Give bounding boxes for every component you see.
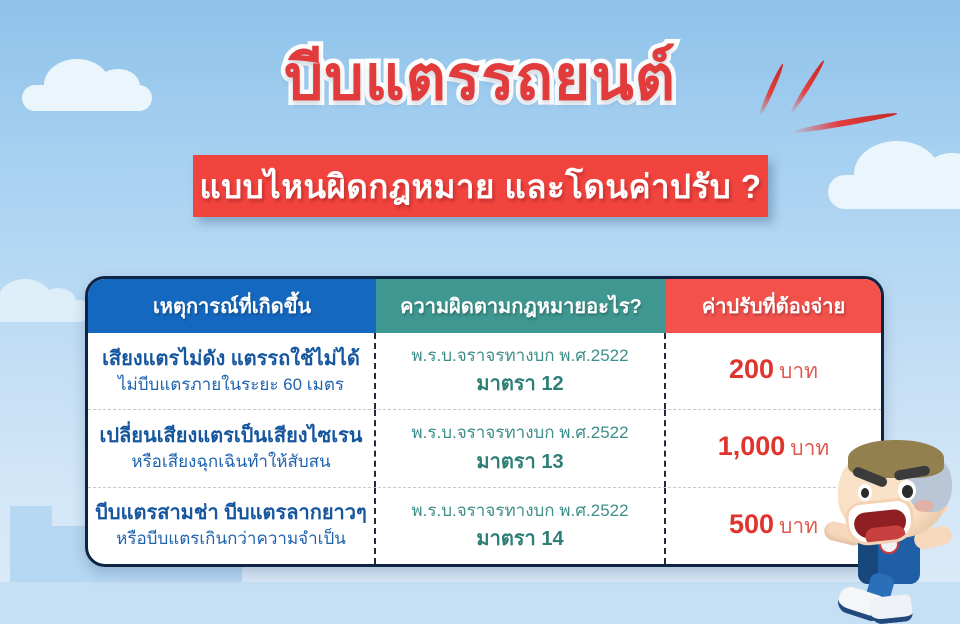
law-act-text: พ.ร.บ.จราจรทางบก พ.ศ.2522 [411, 500, 628, 522]
character-eyebrow [893, 465, 930, 481]
cell-fine: 200บาท [666, 333, 881, 409]
character-cheek-blush [914, 500, 934, 512]
character-shoe [869, 594, 914, 624]
cell-event: เสียงแตรไม่ดัง แตรรถใช้ไม่ได้ ไม่บีบแตรภ… [88, 333, 376, 409]
law-section-text: มาตรา 12 [476, 371, 563, 397]
cell-event: บีบแตรสามช่า บีบแตรลากยาวๆ หรือบีบแตรเกิ… [88, 488, 376, 564]
fine-line: 200บาท [729, 354, 818, 388]
cell-fine: 1,000บาท [666, 410, 881, 486]
table-row: เสียงแตรไม่ดัง แตรรถใช้ไม่ได้ ไม่บีบแตรภ… [88, 333, 881, 410]
character-eye [898, 480, 916, 501]
fine-amount: 200 [729, 354, 774, 384]
law-act-text: พ.ร.บ.จราจรทางบก พ.ศ.2522 [411, 345, 628, 367]
fine-amount: 500 [729, 509, 774, 539]
page-title: บีบแตรรถยนต์ [0, 46, 960, 111]
event-main-text: บีบแตรสามช่า บีบแตรลากยาวๆ [95, 501, 367, 526]
law-section-text: มาตรา 13 [476, 449, 563, 475]
cell-fine: 500บาท [666, 488, 881, 564]
infographic-canvas: บีบแตรรถยนต์ แบบไหนผิดกฎหมาย และโดนค่าปร… [0, 0, 960, 624]
table-header-row: เหตุการณ์ที่เกิดขึ้น ความผิดตามกฎหมายอะไ… [88, 279, 881, 333]
event-main-text: เปลี่ยนเสียงแตรเป็นเสียงไซเรน [100, 424, 363, 449]
event-sub-text: หรือเสียงฉุกเฉินทำให้สับสน [131, 451, 330, 473]
cloud-icon [828, 175, 960, 209]
ground-strip [0, 582, 960, 624]
law-section-text: มาตรา 14 [476, 526, 563, 552]
event-sub-text: หรือบีบแตรเกินกว่าความจำเป็น [116, 528, 346, 550]
fine-unit: บาท [779, 360, 818, 383]
character-right-arm [912, 524, 953, 550]
fine-line: 500บาท [729, 509, 818, 543]
column-header-event: เหตุการณ์ที่เกิดขึ้น [88, 279, 376, 333]
cloud-icon [0, 300, 90, 322]
cell-law: พ.ร.บ.จราจรทางบก พ.ศ.2522 มาตรา 12 [376, 333, 666, 409]
character-leg [864, 571, 895, 606]
table-row: เปลี่ยนเสียงแตรเป็นเสียงไซเรน หรือเสียงฉ… [88, 410, 881, 487]
subtitle-banner: แบบไหนผิดกฎหมาย และโดนค่าปรับ ? [193, 155, 768, 217]
sound-burst-line-icon [790, 111, 897, 136]
subtitle-text: แบบไหนผิดกฎหมาย และโดนค่าปรับ ? [200, 160, 762, 213]
event-main-text: เสียงแตรไม่ดัง แตรรถใช้ไม่ได้ [102, 347, 360, 372]
cell-event: เปลี่ยนเสียงแตรเป็นเสียงไซเรน หรือเสียงฉ… [88, 410, 376, 486]
penalty-table: เหตุการณ์ที่เกิดขึ้น ความผิดตามกฎหมายอะไ… [85, 276, 884, 567]
fine-unit: บาท [779, 515, 818, 538]
cell-law: พ.ร.บ.จราจรทางบก พ.ศ.2522 มาตรา 14 [376, 488, 666, 564]
column-header-fine: ค่าปรับที่ต้องจ่าย [666, 279, 881, 333]
cell-law: พ.ร.บ.จราจรทางบก พ.ศ.2522 มาตรา 13 [376, 410, 666, 486]
building-shape [10, 506, 52, 584]
law-act-text: พ.ร.บ.จราจรทางบก พ.ศ.2522 [411, 422, 628, 444]
character-ear [928, 490, 948, 516]
character-helmet [908, 456, 952, 512]
table-row: บีบแตรสามช่า บีบแตรลากยาวๆ หรือบีบแตรเกิ… [88, 488, 881, 564]
fine-line: 1,000บาท [718, 431, 830, 465]
character-shoe [835, 584, 885, 623]
table-body: เสียงแตรไม่ดัง แตรรถใช้ไม่ได้ ไม่บีบแตรภ… [88, 333, 881, 564]
event-sub-text: ไม่บีบแตรภายในระยะ 60 เมตร [118, 374, 344, 396]
fine-amount: 1,000 [718, 431, 786, 461]
column-header-law: ความผิดตามกฎหมายอะไร? [376, 279, 666, 333]
fine-unit: บาท [790, 437, 829, 460]
